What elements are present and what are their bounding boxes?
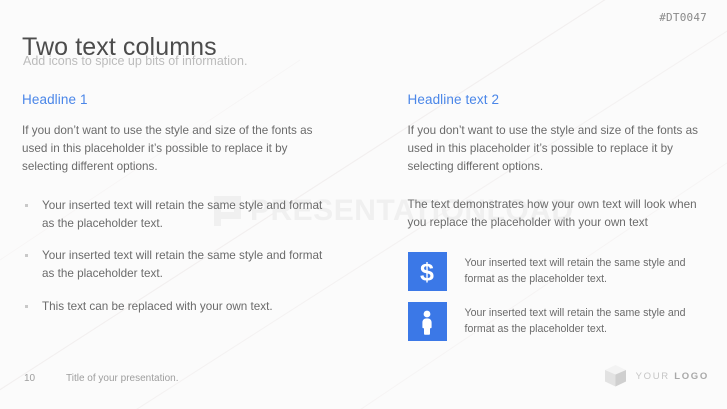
dollar-icon: $: [414, 259, 440, 285]
footer-page-number: 10: [24, 373, 35, 384]
list-item-label: Your inserted text will retain the same …: [42, 249, 322, 280]
bullet-dot-icon: [25, 254, 28, 257]
right-column-headline: Headline text 2: [408, 92, 712, 107]
page-subtitle: Add icons to spice up bits of informatio…: [23, 54, 247, 68]
icon-row-label: Your inserted text will retain the same …: [465, 306, 712, 338]
svg-text:$: $: [420, 259, 434, 285]
right-column-paragraph: If you don’t want to use the style and s…: [408, 122, 712, 176]
bullet-dot-icon: [25, 204, 28, 207]
left-column-paragraph: If you don’t want to use the style and s…: [22, 122, 336, 176]
left-column: Headline 1 If you don’t want to use the …: [0, 92, 364, 341]
left-column-headline: Headline 1: [22, 92, 336, 107]
cube-icon: [603, 363, 628, 389]
footer-title: Title of your presentation.: [66, 373, 178, 384]
icon-row-dollar: $ Your inserted text will retain the sam…: [408, 252, 712, 291]
logo-word-2: LOGO: [674, 371, 709, 382]
dollar-icon-tile: $: [408, 252, 447, 291]
footer-logo: YOUR LOGO: [603, 363, 709, 389]
bullet-dot-icon: [25, 305, 28, 308]
left-column-bullet-list: Your inserted text will retain the same …: [22, 197, 336, 316]
right-column: Headline text 2 If you don’t want to use…: [364, 92, 727, 341]
person-icon-tile: [408, 302, 447, 341]
icon-row-person: Your inserted text will retain the same …: [408, 302, 712, 341]
icon-row-label: Your inserted text will retain the same …: [465, 256, 712, 288]
list-item: This text can be replaced with your own …: [22, 298, 336, 316]
logo-text: YOUR LOGO: [636, 371, 709, 382]
icon-row-list: $ Your inserted text will retain the sam…: [408, 252, 712, 341]
logo-word-1: YOUR: [636, 371, 670, 382]
list-item-label: Your inserted text will retain the same …: [42, 199, 322, 230]
list-item: Your inserted text will retain the same …: [22, 197, 336, 233]
list-item: Your inserted text will retain the same …: [22, 247, 336, 283]
right-column-paragraph-2: The text demonstrates how your own text …: [408, 196, 712, 232]
document-id: #DT0047: [659, 11, 707, 24]
person-icon: [415, 309, 439, 335]
two-column-layout: Headline 1 If you don’t want to use the …: [0, 92, 727, 341]
slide: PRESENTATIONLOAD #DT0047 Two text column…: [0, 0, 727, 409]
list-item-label: This text can be replaced with your own …: [42, 300, 273, 313]
